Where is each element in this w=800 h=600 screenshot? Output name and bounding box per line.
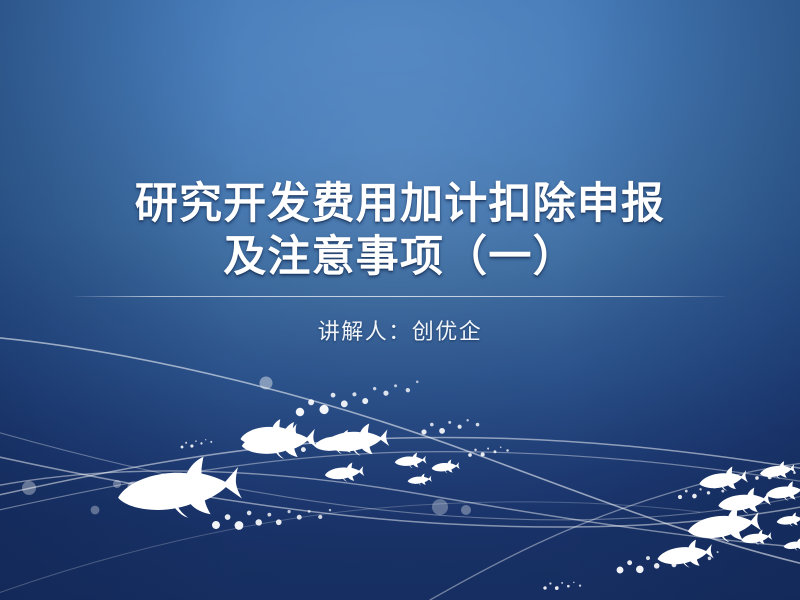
page-title-line-2: 及注意事项（一） <box>0 231 800 284</box>
title-divider <box>75 296 725 297</box>
title-block: 研究开发费用加计扣除申报 及注意事项（一） 讲解人：创优企 <box>0 178 800 346</box>
page-title-line-1: 研究开发费用加计扣除申报 <box>0 178 800 231</box>
title-slide: 研究开发费用加计扣除申报 及注意事项（一） 讲解人：创优企 <box>0 0 800 600</box>
presenter-subtitle: 讲解人：创优企 <box>0 314 800 346</box>
